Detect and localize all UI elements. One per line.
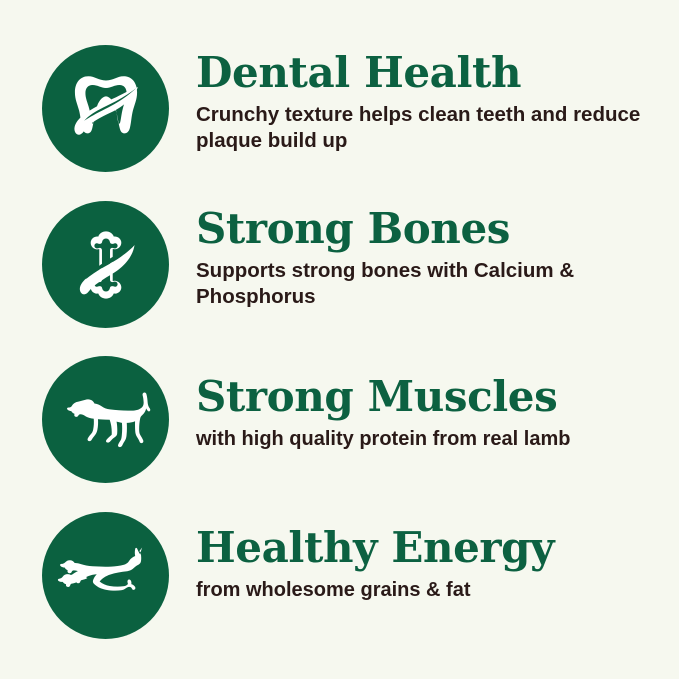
bone-leaf-icon	[64, 223, 148, 307]
tooth-leaf-icon	[64, 67, 148, 151]
benefit-description: Crunchy texture helps clean teeth and re…	[196, 102, 666, 154]
benefit-title: Healthy Energy	[196, 527, 666, 569]
bone-leaf-icon-badge	[42, 201, 169, 328]
leaping-dog-icon-badge	[42, 512, 169, 639]
benefit-text-strong-muscles: Strong Muscles with high quality protein…	[196, 376, 666, 453]
benefit-text-dental-health: Dental Health Crunchy texture helps clea…	[196, 52, 666, 154]
tooth-leaf-icon-badge	[42, 45, 169, 172]
benefit-title: Strong Bones	[196, 208, 666, 250]
benefit-title: Strong Muscles	[196, 376, 666, 418]
benefit-description: Supports strong bones with Calcium & Pho…	[196, 258, 666, 310]
benefit-title: Dental Health	[196, 52, 666, 94]
benefit-text-healthy-energy: Healthy Energy from wholesome grains & f…	[196, 527, 666, 604]
benefits-panel: Dental Health Crunchy texture helps clea…	[0, 0, 679, 679]
leaping-dog-icon	[56, 526, 156, 626]
benefit-description: with high quality protein from real lamb	[196, 427, 666, 453]
benefit-text-strong-bones: Strong Bones Supports strong bones with …	[196, 208, 666, 310]
standing-dog-icon	[60, 374, 152, 466]
standing-dog-icon-badge	[42, 356, 169, 483]
benefit-description: from wholesome grains & fat	[196, 578, 666, 604]
